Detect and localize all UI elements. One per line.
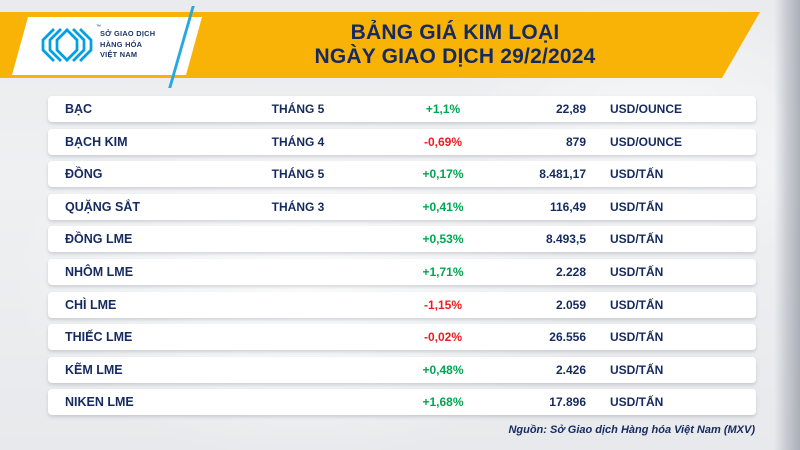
row-commodity-name: QUẶNG SẮT [65,200,140,214]
row-price-value: 2.426 [468,363,586,377]
table-row: ĐỒNG LME+0,53%8.493,5USD/TẤN [48,226,756,252]
row-commodity-name: KẼM LME [65,363,123,377]
row-commodity-name: BẠCH KIM [65,135,128,149]
row-price-unit: USD/TẤN [610,298,663,312]
row-price-unit: USD/TẤN [610,167,663,181]
logo-line-1: SỞ GIAO DỊCH [100,29,155,40]
page-title: BẢNG GIÁ KIM LOẠI NGÀY GIAO DỊCH 29/2/20… [190,12,720,78]
table-row: KẼM LME+0,48%2.426USD/TẤN [48,357,756,383]
table-row: NIKEN LME+1,68%17.896USD/TẤN [48,389,756,415]
title-line-1: BẢNG GIÁ KIM LOẠI [351,21,560,45]
row-commodity-name: CHÌ LME [65,298,116,312]
row-commodity-name: BẠC [65,102,92,116]
row-price-unit: USD/TẤN [610,330,663,344]
table-row: THIẾC LME-0,02%26.556USD/TẤN [48,324,756,350]
row-commodity-name: NIKEN LME [65,395,134,409]
row-price-value: 2.228 [468,265,586,279]
table-row: CHÌ LME-1,15%2.059USD/TẤN [48,292,756,318]
row-contract-month: THÁNG 5 [223,102,373,116]
row-price-value: 22,89 [468,102,586,116]
row-commodity-name: ĐỒNG LME [65,232,132,246]
table-row: BẠCH KIMTHÁNG 4-0,69%879USD/OUNCE [48,129,756,155]
logo: SỞ GIAO DỊCH HÀNG HÓA VIỆT NAM [38,25,155,65]
row-price-unit: USD/OUNCE [610,135,682,149]
mxv-emblem-icon [38,25,94,65]
price-table: BẠCTHÁNG 5+1,1%22,89USD/OUNCEBẠCH KIMTHÁ… [48,96,756,422]
row-price-unit: USD/OUNCE [610,102,682,116]
table-row: ĐỒNGTHÁNG 5+0,17%8.481,17USD/TẤN [48,161,756,187]
row-price-value: 2.059 [468,298,586,312]
row-price-value: 116,49 [468,200,586,214]
row-price-value: 17.896 [468,395,586,409]
logo-wordmark: SỞ GIAO DỊCH HÀNG HÓA VIỆT NAM [100,29,155,61]
row-price-value: 8.493,5 [468,232,586,246]
trademark-icon: ™ [96,24,101,30]
title-line-2: NGÀY GIAO DỊCH 29/2/2024 [314,45,595,69]
row-commodity-name: ĐỒNG [65,167,103,181]
source-note: Nguồn: Sở Giao dịch Hàng hóa Việt Nam (M… [508,424,755,436]
table-row: QUẶNG SẮTTHÁNG 3+0,41%116,49USD/TẤN [48,194,756,220]
logo-line-3: VIỆT NAM [100,50,155,61]
row-price-unit: USD/TẤN [610,200,663,214]
header-banner: BẢNG GIÁ KIM LOẠI NGÀY GIAO DỊCH 29/2/20… [0,12,800,78]
row-commodity-name: NHÔM LME [65,265,133,279]
row-contract-month: THÁNG 5 [223,167,373,181]
row-price-value: 8.481,17 [468,167,586,181]
row-contract-month: THÁNG 4 [223,135,373,149]
table-row: BẠCTHÁNG 5+1,1%22,89USD/OUNCE [48,96,756,122]
row-commodity-name: THIẾC LME [65,330,132,344]
row-price-unit: USD/TẤN [610,265,663,279]
row-price-value: 879 [468,135,586,149]
logo-line-2: HÀNG HÓA [100,40,155,51]
row-price-unit: USD/TẤN [610,363,663,377]
row-contract-month: THÁNG 3 [223,200,373,214]
metal-price-board: BẢNG GIÁ KIM LOẠI NGÀY GIAO DỊCH 29/2/20… [0,0,800,450]
row-price-value: 26.556 [468,330,586,344]
row-price-unit: USD/TẤN [610,232,663,246]
row-price-unit: USD/TẤN [610,395,663,409]
table-row: NHÔM LME+1,71%2.228USD/TẤN [48,259,756,285]
